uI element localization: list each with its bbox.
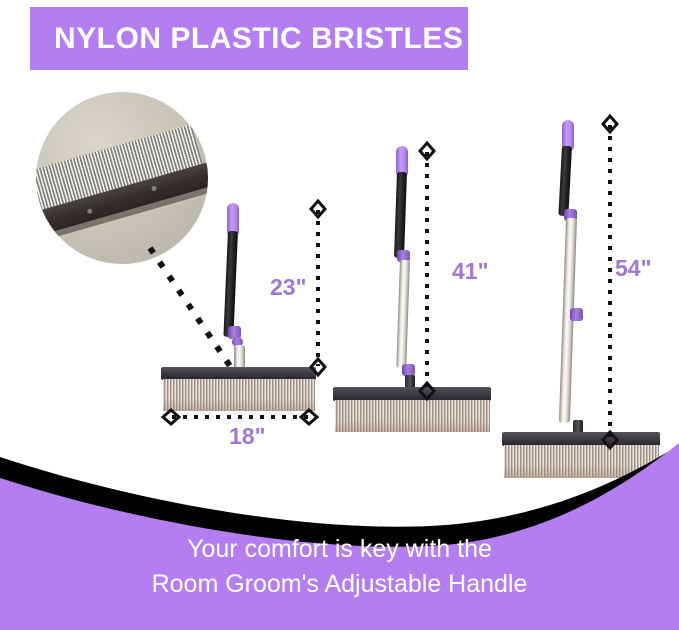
broom-tall-bristles [504,445,659,478]
measure-line-height-54 [597,113,623,451]
infographic-canvas: NYLON PLASTIC BRISTLES 23 [0,0,679,630]
footer-tagline-line2: Room Groom's Adjustable Handle [0,567,679,602]
broom-tall-head-bar [502,432,660,446]
footer-tagline-line1: Your comfort is key with the [0,532,679,567]
measure-label-height-54: 54" [615,255,652,282]
broom-tall-upper-shaft [558,146,572,216]
footer-tagline: Your comfort is key with the Room Groom'… [0,532,679,602]
broom-tall-mid-collar [570,308,583,321]
